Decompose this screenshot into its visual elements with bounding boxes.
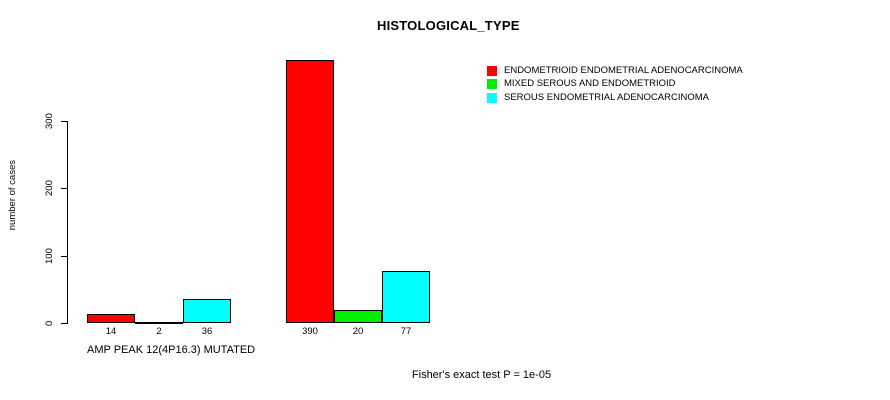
group-axis-label: AMP PEAK 12(4P16.3) MUTATED bbox=[87, 344, 231, 356]
bar-value-label: 36 bbox=[183, 326, 231, 337]
chart-legend: ENDOMETRIOID ENDOMETRIAL ADENOCARCINOMA … bbox=[487, 64, 743, 105]
legend-item-label: SEROUS ENDOMETRIAL ADENOCARCINOMA bbox=[504, 93, 709, 103]
bar bbox=[87, 314, 135, 323]
y-axis-tick bbox=[61, 188, 67, 189]
y-axis-tick-label: 0 bbox=[44, 309, 55, 337]
bar bbox=[135, 322, 183, 324]
legend-item: MIXED SEROUS AND ENDOMETRIOID bbox=[487, 78, 743, 91]
y-axis-tick-label: 300 bbox=[44, 107, 55, 135]
bar-value-label: 77 bbox=[382, 326, 430, 337]
bar bbox=[334, 310, 382, 323]
legend-item: SEROUS ENDOMETRIAL ADENOCARCINOMA bbox=[487, 91, 743, 104]
legend-item-label: MIXED SEROUS AND ENDOMETRIOID bbox=[504, 79, 676, 89]
page-title: HISTOLOGICAL_TYPE bbox=[50, 18, 890, 33]
y-axis-title: number of cases bbox=[7, 160, 18, 230]
bar-value-label: 390 bbox=[286, 326, 334, 337]
y-axis-tick-label: 200 bbox=[44, 174, 55, 202]
bar-chart-plot: HISTOLOGICAL_TYPE ENDOMETRIOID ENDOMETRI… bbox=[0, 0, 890, 400]
bar-value-label: 14 bbox=[87, 326, 135, 337]
legend-swatch-icon bbox=[487, 79, 497, 89]
legend-swatch-icon bbox=[487, 66, 497, 76]
y-axis-tick bbox=[61, 323, 67, 324]
y-axis-tick bbox=[61, 121, 67, 122]
legend-swatch-icon bbox=[487, 93, 497, 103]
bar bbox=[286, 60, 334, 323]
y-axis-tick bbox=[61, 256, 67, 257]
bar-value-label: 2 bbox=[135, 326, 183, 337]
legend-item-label: ENDOMETRIOID ENDOMETRIAL ADENOCARCINOMA bbox=[504, 66, 743, 76]
chart-caption: Fisher's exact test P = 1e-05 bbox=[0, 369, 890, 381]
bar bbox=[382, 271, 430, 323]
bar-value-label: 20 bbox=[334, 326, 382, 337]
y-axis-line bbox=[67, 121, 68, 324]
bar bbox=[183, 299, 231, 323]
y-axis-tick-label: 100 bbox=[44, 242, 55, 270]
legend-item: ENDOMETRIOID ENDOMETRIAL ADENOCARCINOMA bbox=[487, 64, 743, 77]
